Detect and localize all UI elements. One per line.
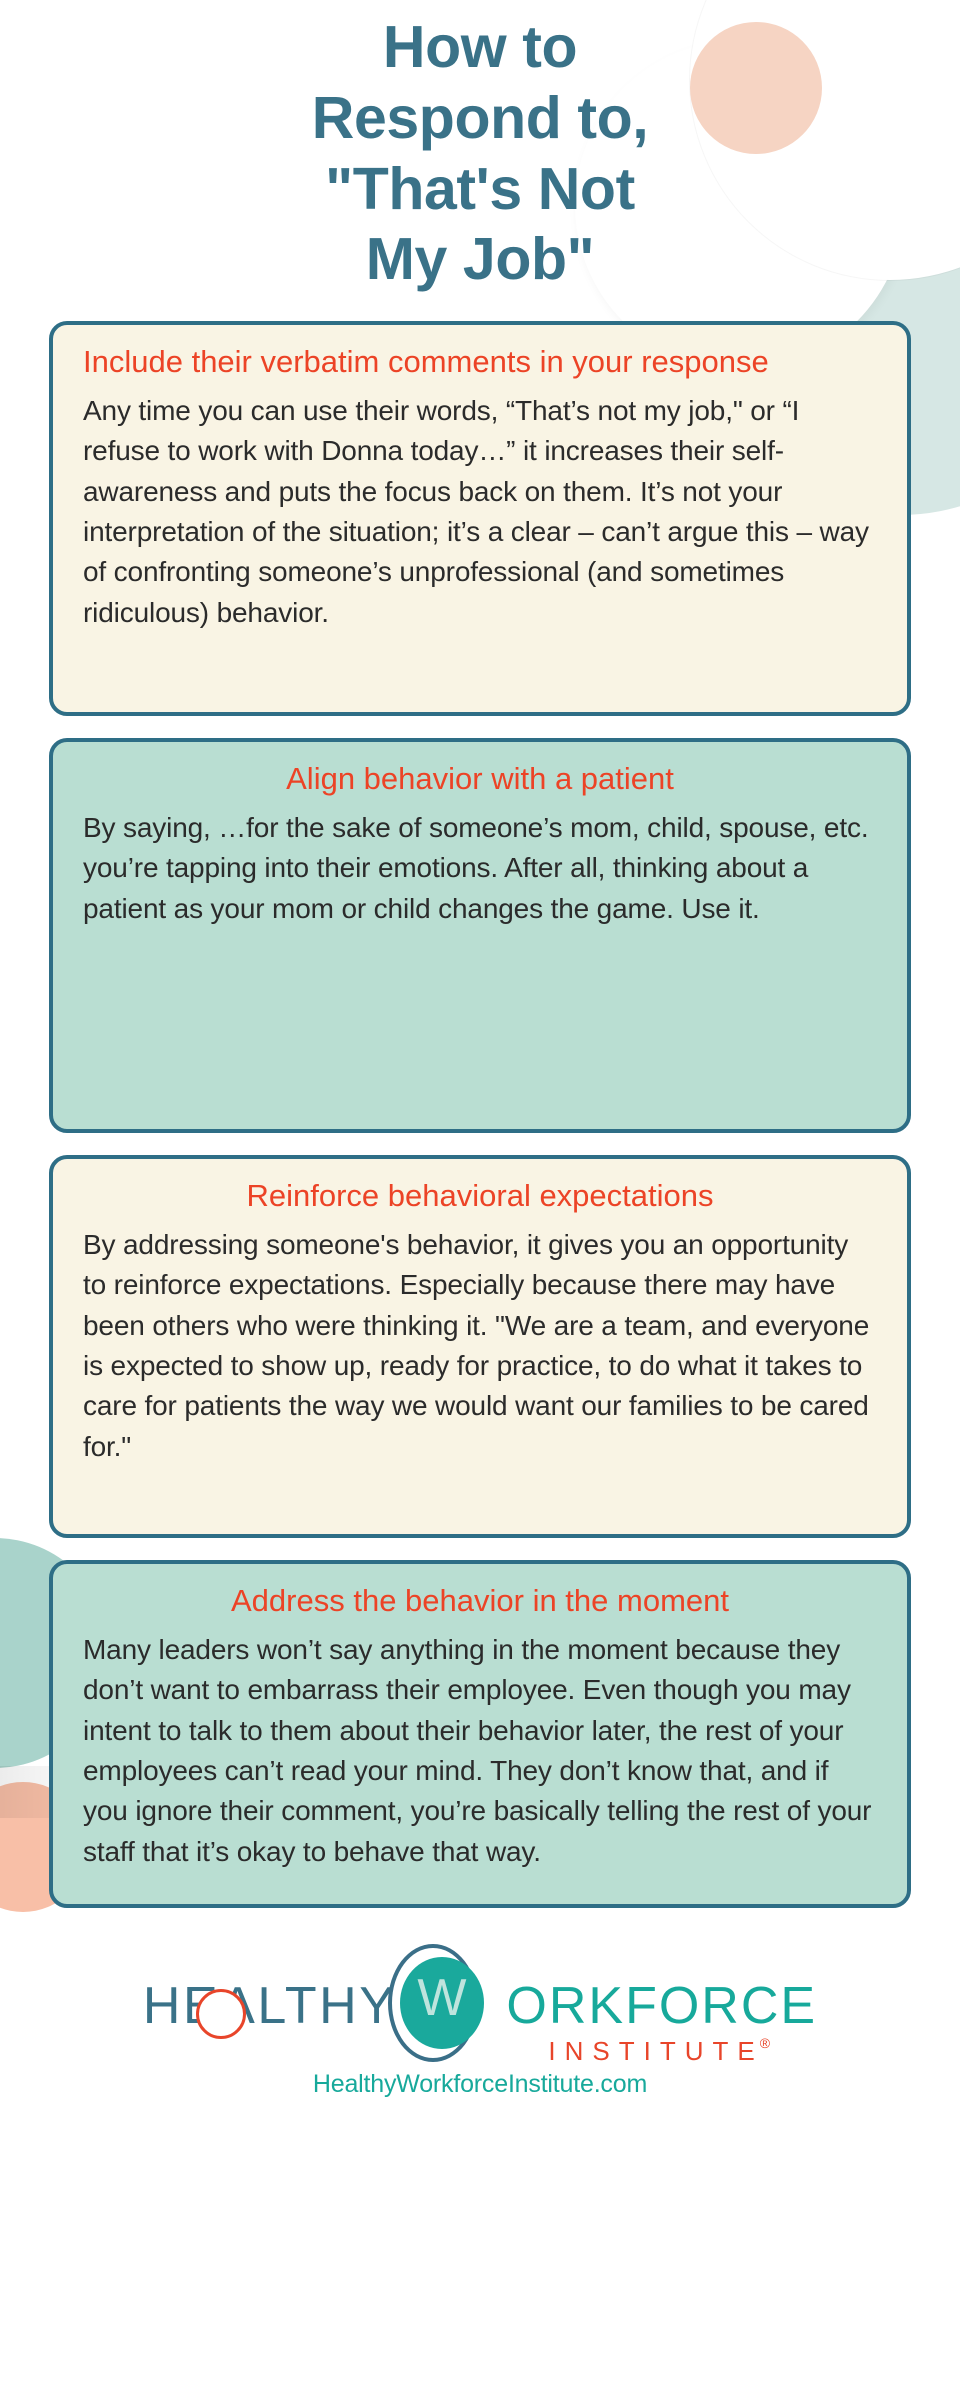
logo-word-institute: INSTITUTE bbox=[548, 2038, 763, 2064]
title-line-1: How to bbox=[0, 12, 960, 83]
title-line-2: Respond to, bbox=[0, 83, 960, 154]
logo-word-orkforce: ORKFORCE bbox=[506, 1980, 817, 2032]
tip-card-align-behavior-with-a-patient: Align behavior with a patient By saying,… bbox=[49, 738, 911, 1133]
infographic-page: How to Respond to, "That's Not My Job" I… bbox=[0, 0, 960, 2099]
tip-card-include-verbatim-comments: Include their verbatim comments in your … bbox=[49, 321, 911, 716]
title-line-3: "That's Not bbox=[0, 154, 960, 225]
logo-w-letter: W bbox=[400, 1972, 484, 2024]
logo-right-group: ORKFORCE INSTITUTE ® bbox=[488, 1944, 817, 2064]
title-line-4: My Job" bbox=[0, 224, 960, 295]
footer-website-url[interactable]: HealthyWorkforceInstitute.com bbox=[0, 2070, 960, 2099]
tip-card-body: By addressing someone's behavior, it giv… bbox=[83, 1225, 877, 1467]
tip-card-heading: Reinforce behavioral expectations bbox=[83, 1177, 877, 1215]
tip-card-reinforce-behavioral-expectations: Reinforce behavioral expectations By add… bbox=[49, 1155, 911, 1538]
page-title: How to Respond to, "That's Not My Job" bbox=[0, 0, 960, 295]
tip-card-body: Any time you can use their words, “That’… bbox=[83, 391, 877, 633]
tip-card-body: Many leaders won’t say anything in the m… bbox=[83, 1630, 877, 1872]
logo-registered-trademark-icon: ® bbox=[760, 2036, 770, 2050]
logo-word-healthy: HEALTHY bbox=[143, 1980, 396, 2032]
logo-institute-row: INSTITUTE ® bbox=[548, 2038, 770, 2064]
tip-card-heading: Address the behavior in the moment bbox=[83, 1582, 877, 1620]
tip-card-address-the-behavior-in-the-moment: Address the behavior in the moment Many … bbox=[49, 1560, 911, 1908]
tip-card-heading: Align behavior with a patient bbox=[83, 760, 877, 798]
logo-o-ring-icon bbox=[196, 1989, 246, 2039]
tip-card-body: By saying, …for the sake of someone’s mo… bbox=[83, 808, 877, 929]
logo-mark-icon: W bbox=[380, 1944, 492, 2062]
footer: HEALTHY W ORKFORCE INSTITUTE ® HealthyWo… bbox=[0, 1944, 960, 2099]
tip-card-heading: Include their verbatim comments in your … bbox=[83, 343, 877, 381]
tips-card-list: Include their verbatim comments in your … bbox=[0, 321, 960, 1908]
brand-logo: HEALTHY W ORKFORCE INSTITUTE ® bbox=[0, 1944, 960, 2064]
